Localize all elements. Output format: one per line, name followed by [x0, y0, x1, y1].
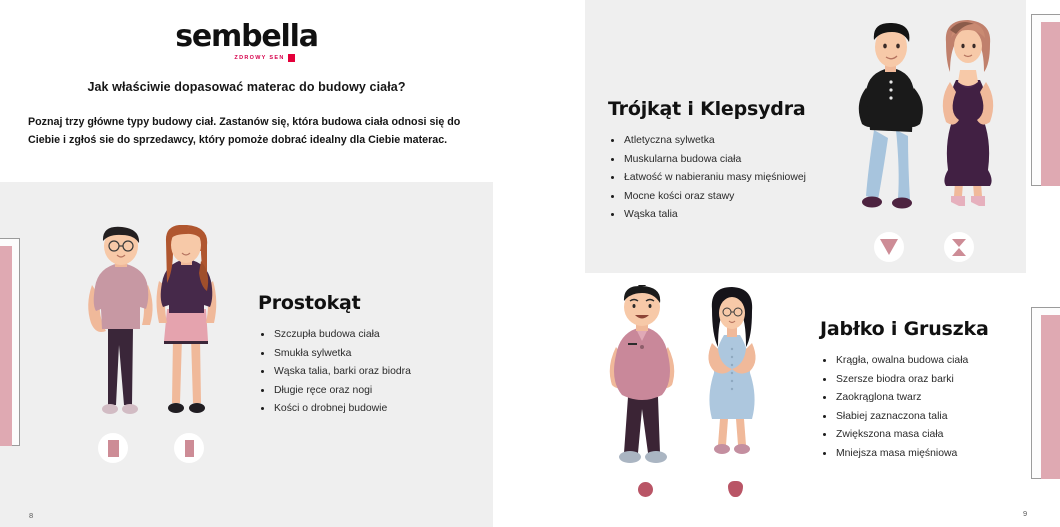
section-title-prostokat: Prostokąt — [258, 292, 483, 314]
shape-icons-jablko-gruszka — [630, 474, 750, 504]
decorative-pink-bar-right-top — [1041, 22, 1060, 186]
presentation-stage: sembella ZDROWY SEN Jak właściwie dopaso… — [0, 0, 1060, 527]
brand-logo: sembella ZDROWY SEN — [0, 22, 493, 62]
triangle-down-icon — [874, 232, 904, 262]
list-item: Wąska talia, barki oraz biodra — [258, 364, 483, 379]
page-number-left: 8 — [29, 511, 33, 520]
logo-tagline-row: ZDROWY SEN — [36, 54, 493, 62]
apple-circle-icon — [630, 474, 660, 504]
rectangle-tall-icon — [98, 433, 128, 463]
figures-prostokat — [78, 225, 228, 430]
section-jablko-gruszka: Jabłko i Gruszka Krągła, owalna budowa c… — [820, 318, 1035, 464]
woman-slim-figure — [157, 225, 217, 413]
list-item: Zaokrąglona twarz — [820, 390, 1035, 405]
bullet-list-prostokat: Szczupła budowa ciała Smukła sylwetka Wą… — [258, 327, 483, 416]
woman-pear-figure — [708, 287, 755, 454]
decorative-pink-bar-right-bottom — [1041, 315, 1060, 479]
section-title-trojkat: Trójkąt i Klepsydra — [608, 98, 868, 120]
intro-paragraph: Poznaj trzy główne typy budowy ciał. Zas… — [28, 114, 488, 149]
list-item: Słabiej zaznaczona talia — [820, 409, 1035, 424]
logo-wordmark: sembella — [0, 22, 493, 52]
section-title-jablko: Jabłko i Gruszka — [820, 318, 1035, 340]
section-prostokat: Prostokąt Szczupła budowa ciała Smukła s… — [258, 292, 483, 420]
hourglass-icon — [944, 232, 974, 262]
list-item: Muskularna budowa ciała — [608, 152, 868, 167]
logo-tagline: ZDROWY SEN — [234, 55, 284, 61]
decorative-pink-bar-left — [0, 246, 12, 446]
shape-icons-trojkat-klepsydra — [874, 232, 974, 262]
page-title: Jak właściwie dopasować materac do budow… — [0, 80, 493, 94]
list-item: Zwiększona masa ciała — [820, 427, 1035, 442]
section-trojkat-klepsydra: Trójkąt i Klepsydra Atletyczna sylwetka … — [608, 98, 868, 226]
shape-icons-prostokat — [98, 433, 204, 463]
list-item: Kości o drobnej budowie — [258, 401, 483, 416]
list-item: Mocne kości oraz stawy — [608, 189, 868, 204]
list-item: Szczupła budowa ciała — [258, 327, 483, 342]
man-slim-figure — [88, 227, 152, 414]
list-item: Mniejsza masa mięśniowa — [820, 446, 1035, 461]
list-item: Smukła sylwetka — [258, 346, 483, 361]
list-item: Wąska talia — [608, 207, 868, 222]
list-item: Krągła, owalna budowa ciała — [820, 353, 1035, 368]
rectangle-narrow-icon — [174, 433, 204, 463]
woman-hourglass-figure — [943, 20, 993, 206]
man-apple-figure — [610, 285, 675, 463]
bullet-list-jablko: Krągła, owalna budowa ciała Szersze biod… — [820, 353, 1035, 461]
bullet-list-trojkat: Atletyczna sylwetka Muskularna budowa ci… — [608, 133, 868, 222]
logo-red-square-icon — [288, 54, 295, 62]
list-item: Łatwość w nabieraniu masy mięśniowej — [608, 170, 868, 185]
figures-trojkat-klepsydra — [852, 20, 1012, 225]
list-item: Atletyczna sylwetka — [608, 133, 868, 148]
slide-page-8: sembella ZDROWY SEN Jak właściwie dopaso… — [0, 0, 493, 527]
pear-icon — [720, 474, 750, 504]
figures-jablko-gruszka — [602, 285, 777, 485]
page-number-right: 9 — [1023, 509, 1027, 518]
list-item: Długie ręce oraz nogi — [258, 383, 483, 398]
list-item: Szersze biodra oraz barki — [820, 372, 1035, 387]
man-athletic-figure — [859, 23, 923, 209]
